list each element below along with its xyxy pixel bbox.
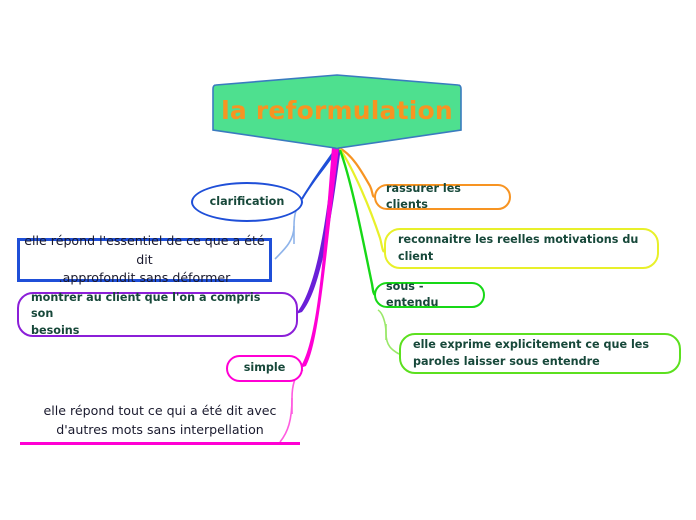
- node-rassurer-les-clients-label: rassurer les clients: [386, 181, 499, 213]
- central-node-label: la reformulation: [212, 74, 462, 148]
- node-sous-entendu[interactable]: sous -entendu: [374, 282, 485, 308]
- node-clarification[interactable]: clarification: [191, 182, 303, 222]
- branch-line-clarification-curve: [302, 147, 338, 199]
- branch-line-simple: [300, 147, 339, 368]
- node-elle-repond-tout-line1: elle répond tout ce qui a été dit avec: [44, 403, 277, 418]
- subbranch-line-elle-exprime: [378, 310, 399, 354]
- branch-line-clarification: [300, 147, 340, 202]
- node-elle-repond-essentiel-label: elle répond l'essentiel de ce que a été …: [20, 232, 269, 289]
- node-elle-repond-tout-label: elle répond tout ce qui a été dit avec d…: [44, 402, 277, 440]
- node-montrer-au-client[interactable]: montrer au client que l'on a compris son…: [17, 292, 298, 337]
- node-elle-repond-essentiel-line1: elle répond l'essentiel de ce que a été …: [24, 233, 264, 267]
- node-reconnaitre-motivations-line2: client: [398, 250, 433, 263]
- node-elle-exprime-explicitement[interactable]: elle exprime explicitement ce que les pa…: [399, 333, 681, 374]
- node-elle-repond-tout-line2: d'autres mots sans interpellation: [56, 422, 264, 437]
- node-montrer-au-client-line1: montrer au client que l'on a compris son: [31, 291, 260, 320]
- node-elle-exprime-explicitement-line1: elle exprime explicitement ce que les: [413, 338, 649, 351]
- node-sous-entendu-label: sous -entendu: [386, 279, 473, 311]
- central-node[interactable]: la reformulation: [212, 74, 462, 148]
- branch-line-sous-entendu: [340, 150, 375, 295]
- node-simple-label: simple: [244, 360, 286, 376]
- mindmap-canvas: la reformulation clarification elle répo…: [0, 0, 696, 520]
- node-montrer-au-client-label: montrer au client que l'on a compris son…: [31, 290, 284, 339]
- node-elle-repond-essentiel[interactable]: elle répond l'essentiel de ce que a été …: [17, 238, 272, 282]
- node-reconnaitre-motivations-label: reconnaitre les reelles motivations du c…: [398, 232, 638, 264]
- node-elle-repond-essentiel-line2: .approfondit sans déformer: [59, 270, 231, 285]
- node-simple[interactable]: simple: [226, 355, 303, 382]
- node-montrer-au-client-line2: besoins: [31, 324, 79, 337]
- node-rassurer-les-clients[interactable]: rassurer les clients: [374, 184, 511, 210]
- branch-line-rassurer: [339, 148, 374, 197]
- node-clarification-label: clarification: [210, 194, 285, 210]
- node-elle-exprime-explicitement-line2: paroles laisser sous entendre: [413, 355, 600, 368]
- node-elle-repond-tout[interactable]: elle répond tout ce qui a été dit avec d…: [20, 399, 300, 445]
- branch-line-montrer: [296, 147, 341, 314]
- node-reconnaitre-motivations-line1: reconnaitre les reelles motivations du: [398, 233, 638, 246]
- node-elle-exprime-explicitement-label: elle exprime explicitement ce que les pa…: [413, 337, 649, 369]
- node-reconnaitre-motivations[interactable]: reconnaitre les reelles motivations du c…: [384, 228, 659, 269]
